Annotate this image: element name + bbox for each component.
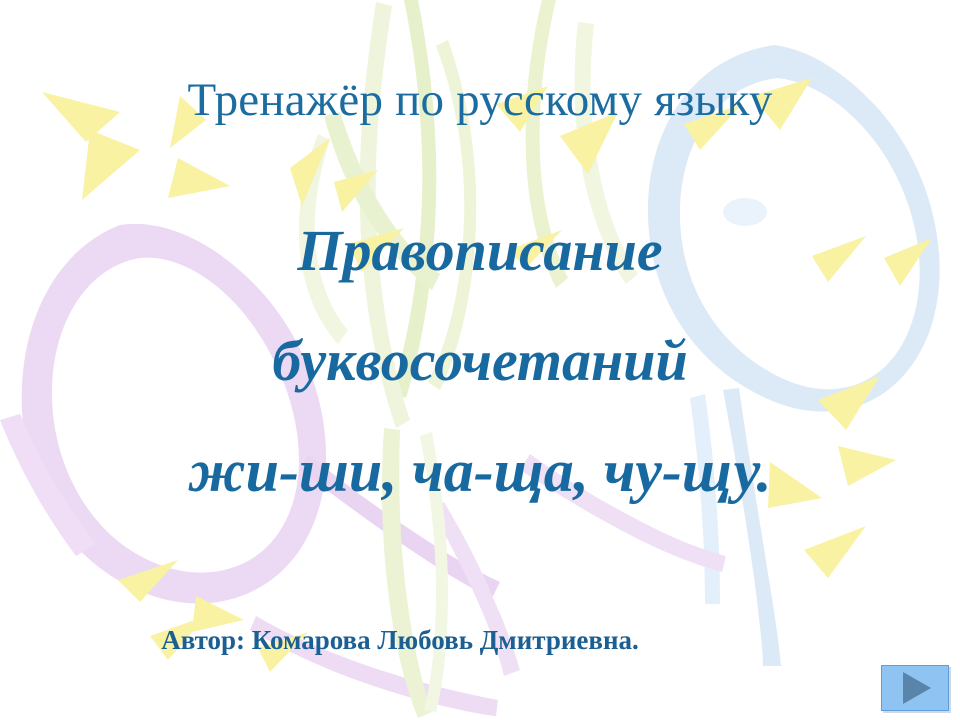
presentation-slide: Тренажёр по русскому языку Правописание … [0,0,960,720]
subject-line-1: Правописание [0,196,960,306]
page-title: Тренажёр по русскому языку [0,75,960,126]
play-triangle-right-icon [903,672,931,704]
next-slide-button[interactable] [881,665,949,711]
subject-heading-block: Правописание буквосочетаний жи-ши, ча-ща… [0,196,960,526]
subject-line-3: жи-ши, ча-ща, чу-щу. [0,416,960,526]
author-credit: Автор: Комарова Любовь Дмитриевна. [0,625,800,656]
subject-line-2: буквосочетаний [0,306,960,416]
